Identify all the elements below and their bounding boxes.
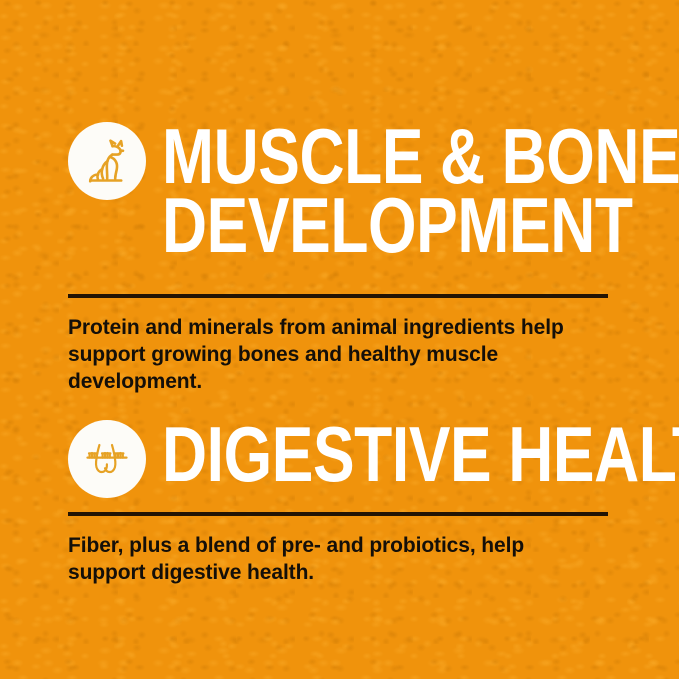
benefit-headings: MUSCLE & BONE DEVELOPMENT (162, 122, 619, 259)
benefit-heading-line-1: DIGESTIVE HEALTH (162, 420, 528, 489)
benefit-heading-row: MUSCLE & BONE DEVELOPMENT (0, 122, 679, 259)
benefit-block-muscle-bone: MUSCLE & BONE DEVELOPMENT (0, 122, 679, 259)
benefit-block-digestive-health: DIGESTIVE HEALTH (0, 420, 679, 498)
benefit-headings: DIGESTIVE HEALTH (162, 420, 619, 489)
panel-content: MUSCLE & BONE DEVELOPMENT Protein and mi… (0, 0, 679, 679)
benefit-heading-line-2: DEVELOPMENT (162, 191, 528, 260)
benefit-heading-row: DIGESTIVE HEALTH (0, 420, 679, 498)
intestinal-villi-icon (68, 420, 146, 498)
divider-rule-2 (68, 512, 608, 516)
benefit-body-digestive-health: Fiber, plus a blend of pre- and probioti… (68, 532, 588, 586)
benefit-body-muscle-bone: Protein and minerals from animal ingredi… (68, 314, 588, 395)
benefits-panel: MUSCLE & BONE DEVELOPMENT Protein and mi… (0, 0, 679, 679)
divider-rule-1 (68, 294, 608, 298)
sitting-dog-icon (68, 122, 146, 200)
